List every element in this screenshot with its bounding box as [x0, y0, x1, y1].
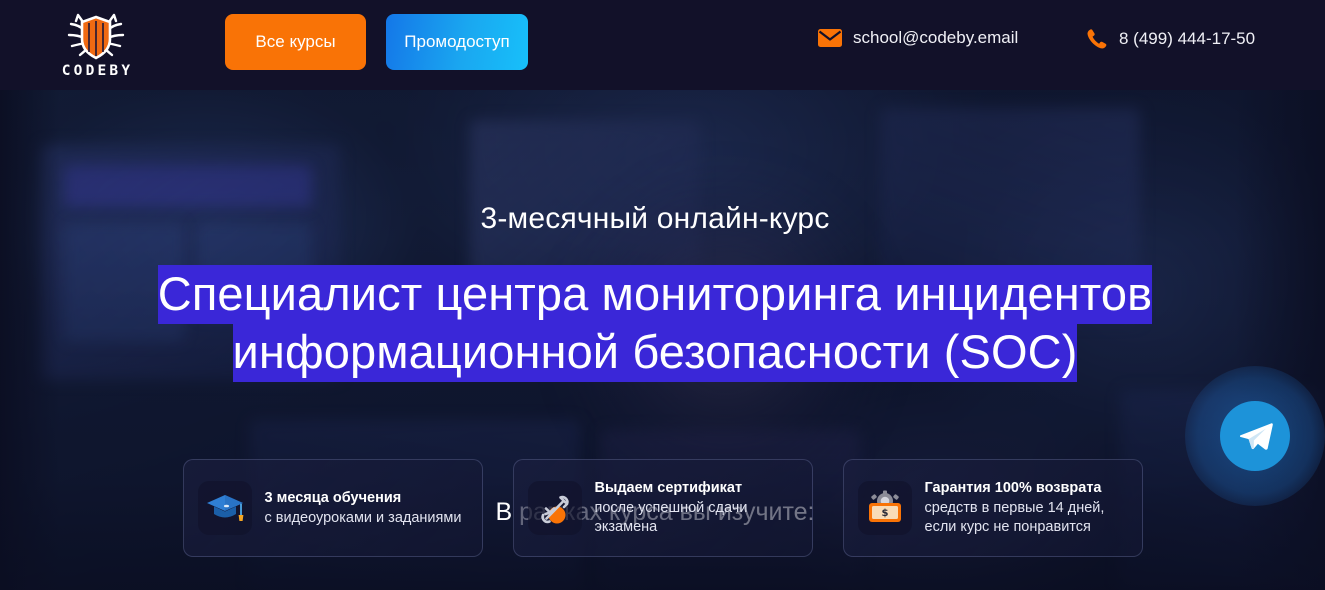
- feature-card-desc: после успешной сдачи экзамена: [595, 499, 798, 537]
- promo-access-button[interactable]: Промодоступ: [386, 14, 528, 70]
- feature-card-title: 3 месяца обучения: [265, 489, 462, 508]
- feature-card-text: Выдаем сертификат после успешной сдачи э…: [595, 479, 798, 537]
- feature-card-list: 3 месяца обучения с видеоуроками и задан…: [0, 459, 1325, 557]
- site-logo[interactable]: CODEBY: [48, 6, 144, 82]
- headline-line-1: Специалист центра мониторинга инцидентов: [158, 265, 1152, 324]
- telegram-button[interactable]: [1220, 401, 1290, 471]
- envelope-icon: [818, 29, 842, 47]
- feature-card-text: Гарантия 100% возврата средств в первые …: [925, 479, 1128, 537]
- page-root: CODEBY Все курсы Промодоступ school@code…: [0, 0, 1325, 590]
- phone-icon: [1086, 28, 1108, 50]
- header-phone[interactable]: 8 (499) 444-17-50: [1086, 28, 1255, 50]
- telegram-float-wrapper: [1185, 366, 1325, 506]
- page-title: Специалист центра мониторинга инцидентов…: [0, 265, 1310, 381]
- telegram-icon: [1239, 422, 1273, 452]
- header-phone-text: 8 (499) 444-17-50: [1119, 29, 1255, 49]
- graduation-cap-icon: [205, 491, 245, 525]
- all-courses-button[interactable]: Все курсы: [225, 14, 366, 70]
- header-email-text: school@codeby.email: [853, 28, 1018, 48]
- feature-icon-slot: [528, 481, 582, 535]
- feature-card-desc: средств в первые 14 дней, если курс не п…: [925, 499, 1128, 537]
- svg-text:$: $: [881, 508, 888, 519]
- hero-content: 3-месячный онлайн-курс Специалист центра…: [0, 90, 1325, 590]
- codeby-spider-shield-logo: [65, 10, 127, 62]
- headline-line-2: информационной безопасности (SOC): [233, 323, 1078, 382]
- feature-card-title: Выдаем сертификат: [595, 479, 798, 498]
- certificate-scroll-icon: [536, 490, 574, 526]
- hero-section: 3-месячный онлайн-курс Специалист центра…: [0, 90, 1325, 590]
- site-header: CODEBY Все курсы Промодоступ school@code…: [0, 0, 1325, 90]
- money-back-icon: $: [865, 490, 905, 526]
- feature-icon-slot: [198, 481, 252, 535]
- feature-icon-slot: $: [858, 481, 912, 535]
- hero-eyebrow: 3-месячный онлайн-курс: [0, 202, 1310, 236]
- feature-card-refund[interactable]: $ Гарантия 100% возврата средств в первы…: [843, 459, 1143, 557]
- feature-card-duration[interactable]: 3 месяца обучения с видеоуроками и задан…: [183, 459, 483, 557]
- feature-card-title: Гарантия 100% возврата: [925, 479, 1128, 498]
- feature-card-certificate[interactable]: Выдаем сертификат после успешной сдачи э…: [513, 459, 813, 557]
- feature-card-desc: с видеоуроками и заданиями: [265, 509, 462, 528]
- feature-card-text: 3 месяца обучения с видеоуроками и задан…: [265, 489, 462, 528]
- logo-wordmark: CODEBY: [59, 64, 134, 79]
- header-email[interactable]: school@codeby.email: [818, 28, 1018, 48]
